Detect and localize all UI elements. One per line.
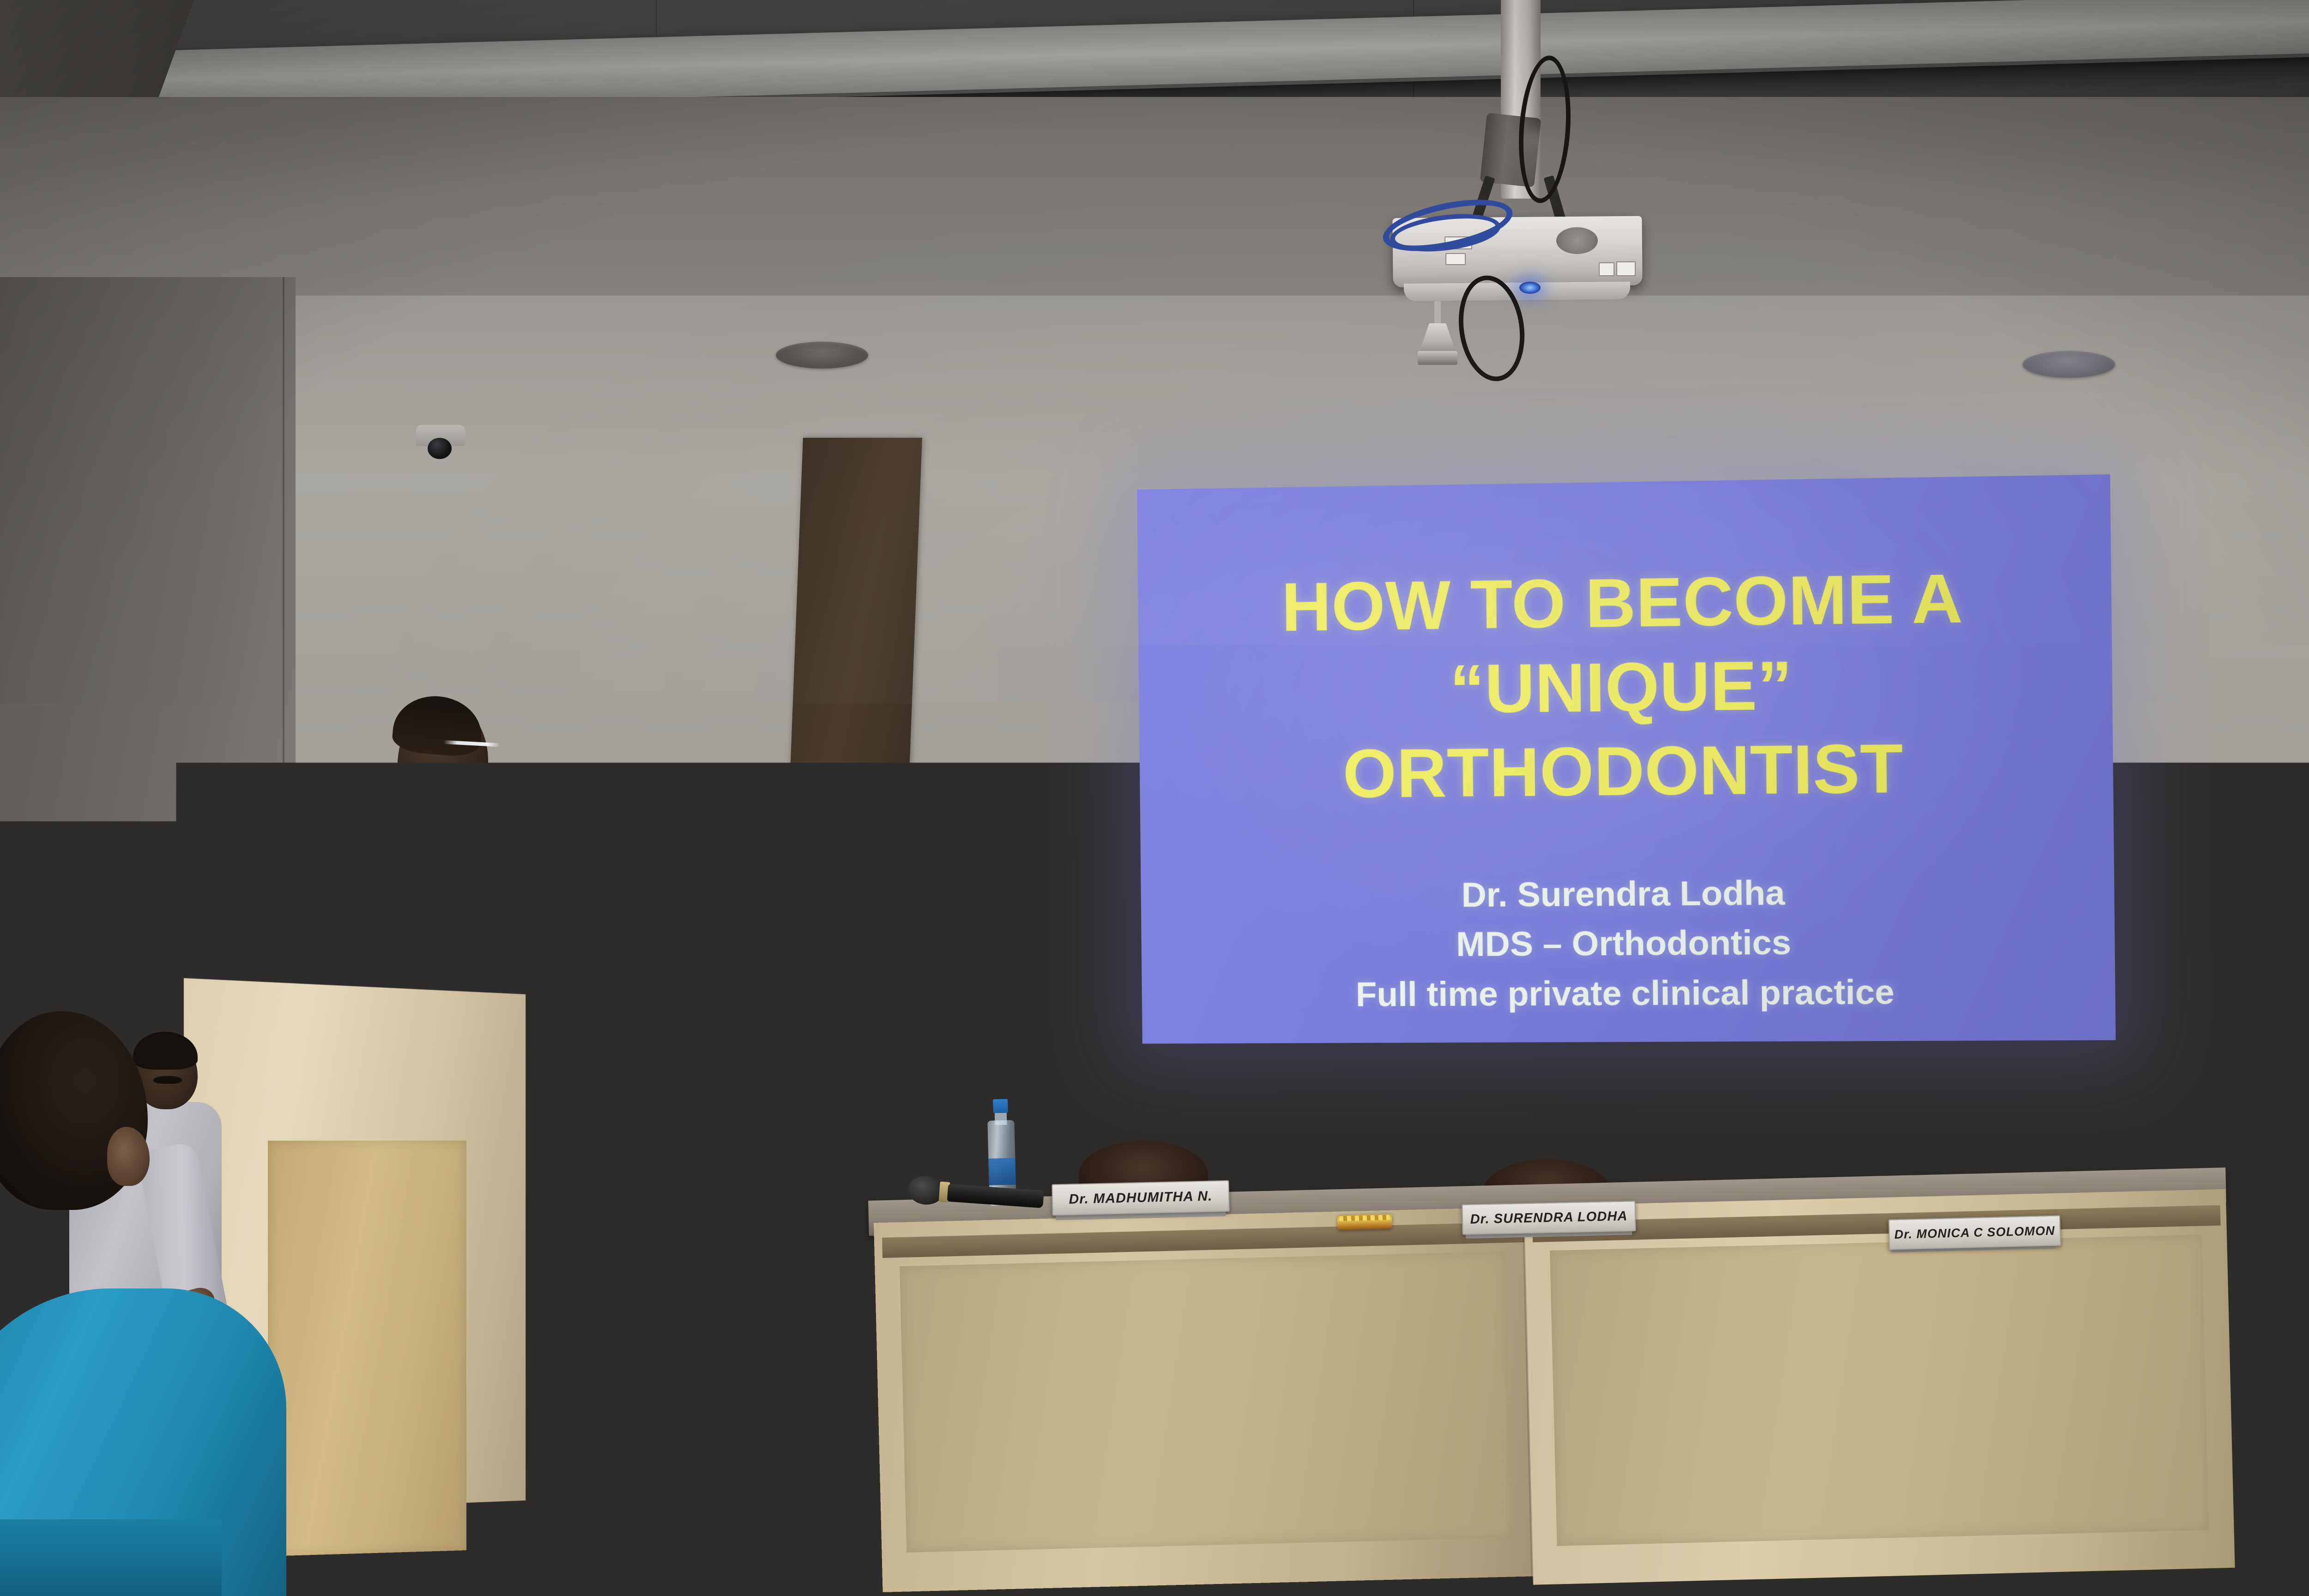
slide-presenter-qualification: MDS – Orthodontics [1355, 917, 1894, 970]
slide-subtitle: Dr. Surendra Lodha MDS – Orthodontics Fu… [1354, 867, 1894, 1020]
slide-title: HOW TO BECOME A “UNIQUE” ORTHODONTIST [1281, 556, 1965, 817]
sprinkler-deflector [1418, 351, 1457, 365]
nameplate-surendra-lodha: Dr. SURENDRA LODHA [1462, 1201, 1636, 1235]
slide-content: HOW TO BECOME A “UNIQUE” ORTHODONTIST Dr… [1137, 474, 2116, 1044]
nameplate-monica-solomon: Dr. MONICA C SOLOMON [1888, 1215, 2061, 1250]
sprinkler-stem [1434, 301, 1441, 327]
nameplate-madhumitha: Dr. MADHUMITHA N. [1052, 1180, 1229, 1216]
slide-presenter-role: Full time private clinical practice [1355, 967, 1894, 1019]
dome-camera-lens [428, 438, 452, 459]
ceiling-speaker-right [2023, 351, 2115, 378]
projector-lan-port [1616, 261, 1636, 276]
slide-title-line-3: ORTHODONTIST [1283, 726, 1965, 817]
bottle-cap [993, 1099, 1008, 1113]
presenter-hand [527, 1099, 556, 1133]
wall-pilaster [778, 438, 922, 1084]
projector-status-led [1519, 282, 1541, 294]
slide-title-line-2: “UNIQUE” [1282, 641, 1964, 733]
projector-usb-port [1599, 262, 1614, 276]
cctv-dome-camera [416, 425, 465, 459]
slide-title-line-1: HOW TO BECOME A [1281, 556, 1963, 650]
lecture-hall-photo: HOW TO BECOME A “UNIQUE” ORTHODONTIST Dr… [0, 0, 2309, 1596]
laptop-screen [296, 896, 350, 939]
slide-presenter-name: Dr. Surendra Lodha [1354, 867, 1893, 921]
projector-audio-port [1445, 253, 1466, 265]
attendee-moustache [153, 1076, 182, 1084]
bottle-label [988, 1158, 1015, 1185]
projector-base [1404, 282, 1630, 301]
floral-decoration [1337, 1214, 1392, 1230]
projector-vent-grille [1556, 227, 1598, 254]
ceiling-speaker-left [776, 342, 868, 369]
projection-screen: HOW TO BECOME A “UNIQUE” ORTHODONTIST Dr… [1137, 474, 2116, 1044]
